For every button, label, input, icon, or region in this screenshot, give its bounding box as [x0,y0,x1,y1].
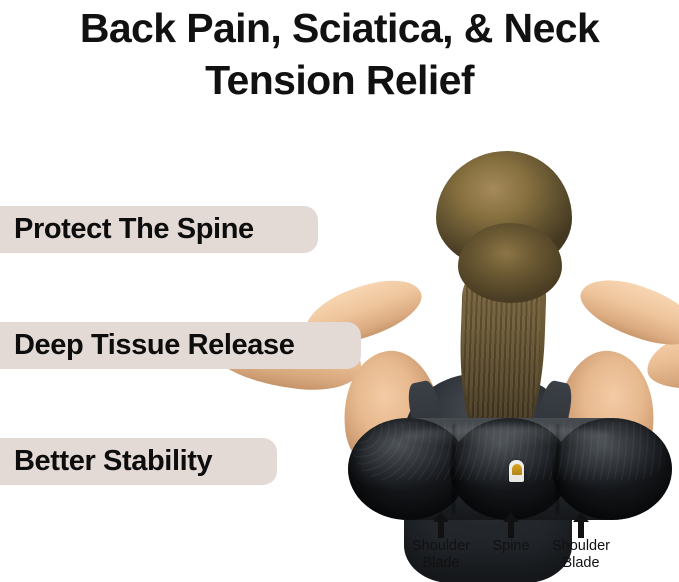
feature-label: Protect The Spine [14,215,254,244]
callout-line-2: Blade [526,555,636,572]
up-arrow-icon [432,512,450,538]
feature-pill-deep-tissue-release: Deep Tissue Release [0,322,361,369]
brand-label [509,460,524,482]
callout-line-2: Blade [386,555,496,572]
foam-roller [348,418,672,520]
feature-label: Better Stability [14,447,212,476]
callout-line-1: Shoulder [526,538,636,555]
hair-knot [458,223,562,303]
roller-highlight [402,426,612,446]
right-forearm [573,268,679,357]
page-title: Back Pain, Sciatica, & Neck Tension Reli… [0,2,679,106]
headline-line-2: Tension Relief [0,54,679,106]
feature-pill-better-stability: Better Stability [0,438,277,485]
up-arrow-icon [502,512,520,538]
up-arrow-icon [572,512,590,538]
headline-line-1: Back Pain, Sciatica, & Neck [0,2,679,54]
brand-label-mark [512,464,522,475]
promo-image: Back Pain, Sciatica, & Neck Tension Reli… [0,0,679,582]
callout-shoulder-blade-right: Shoulder Blade [526,512,636,572]
feature-pill-protect-the-spine: Protect The Spine [0,206,318,253]
feature-label: Deep Tissue Release [14,331,294,360]
